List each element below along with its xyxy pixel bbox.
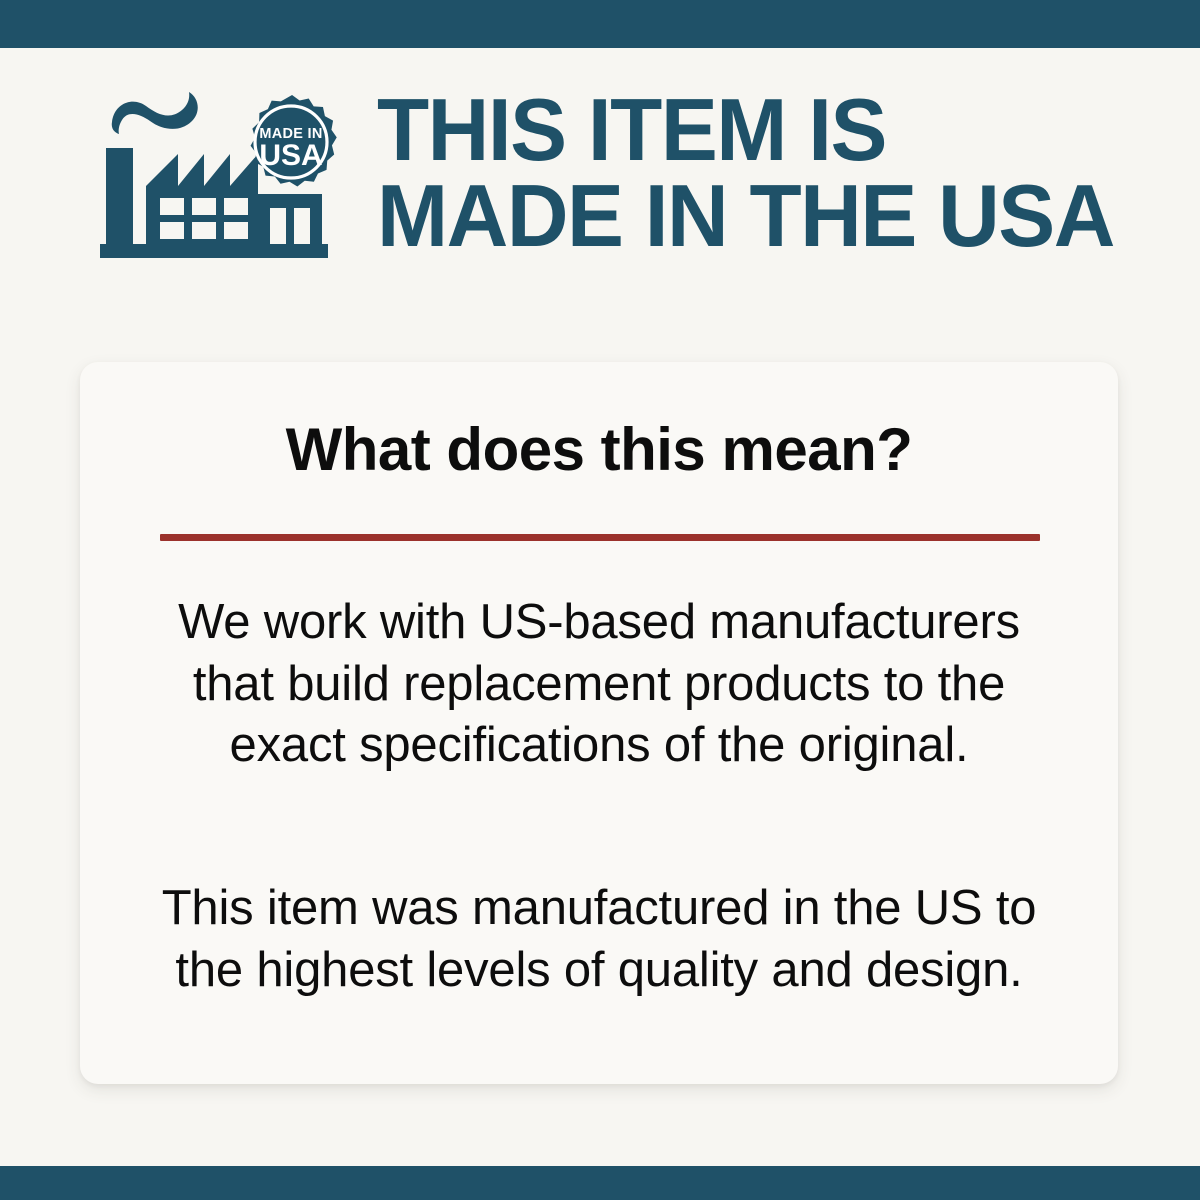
headline-line-1: THIS ITEM IS	[377, 87, 1114, 173]
logo: MADE IN USA	[100, 86, 345, 266]
card-paragraph-2: This item was manufactured in the US to …	[140, 878, 1058, 1001]
card-title: What does this mean?	[80, 420, 1118, 480]
card-paragraph-1: We work with US-based manufacturers that…	[140, 592, 1058, 777]
top-accent-bar	[0, 0, 1200, 48]
headline-line-2: MADE IN THE USA	[377, 173, 1114, 259]
bottom-accent-bar	[0, 1166, 1200, 1200]
title-divider	[160, 534, 1040, 541]
badge-line2-text: USA	[259, 139, 322, 172]
explanation-card: What does this mean? We work with US-bas…	[80, 362, 1118, 1084]
page-title: THIS ITEM IS MADE IN THE USA	[377, 87, 1114, 259]
made-in-usa-banner: MADE IN USA THIS ITEM IS MADE IN THE USA…	[0, 0, 1200, 1200]
header: MADE IN USA THIS ITEM IS MADE IN THE USA	[0, 48, 1200, 298]
made-in-usa-badge-icon: MADE IN USA	[238, 89, 344, 195]
